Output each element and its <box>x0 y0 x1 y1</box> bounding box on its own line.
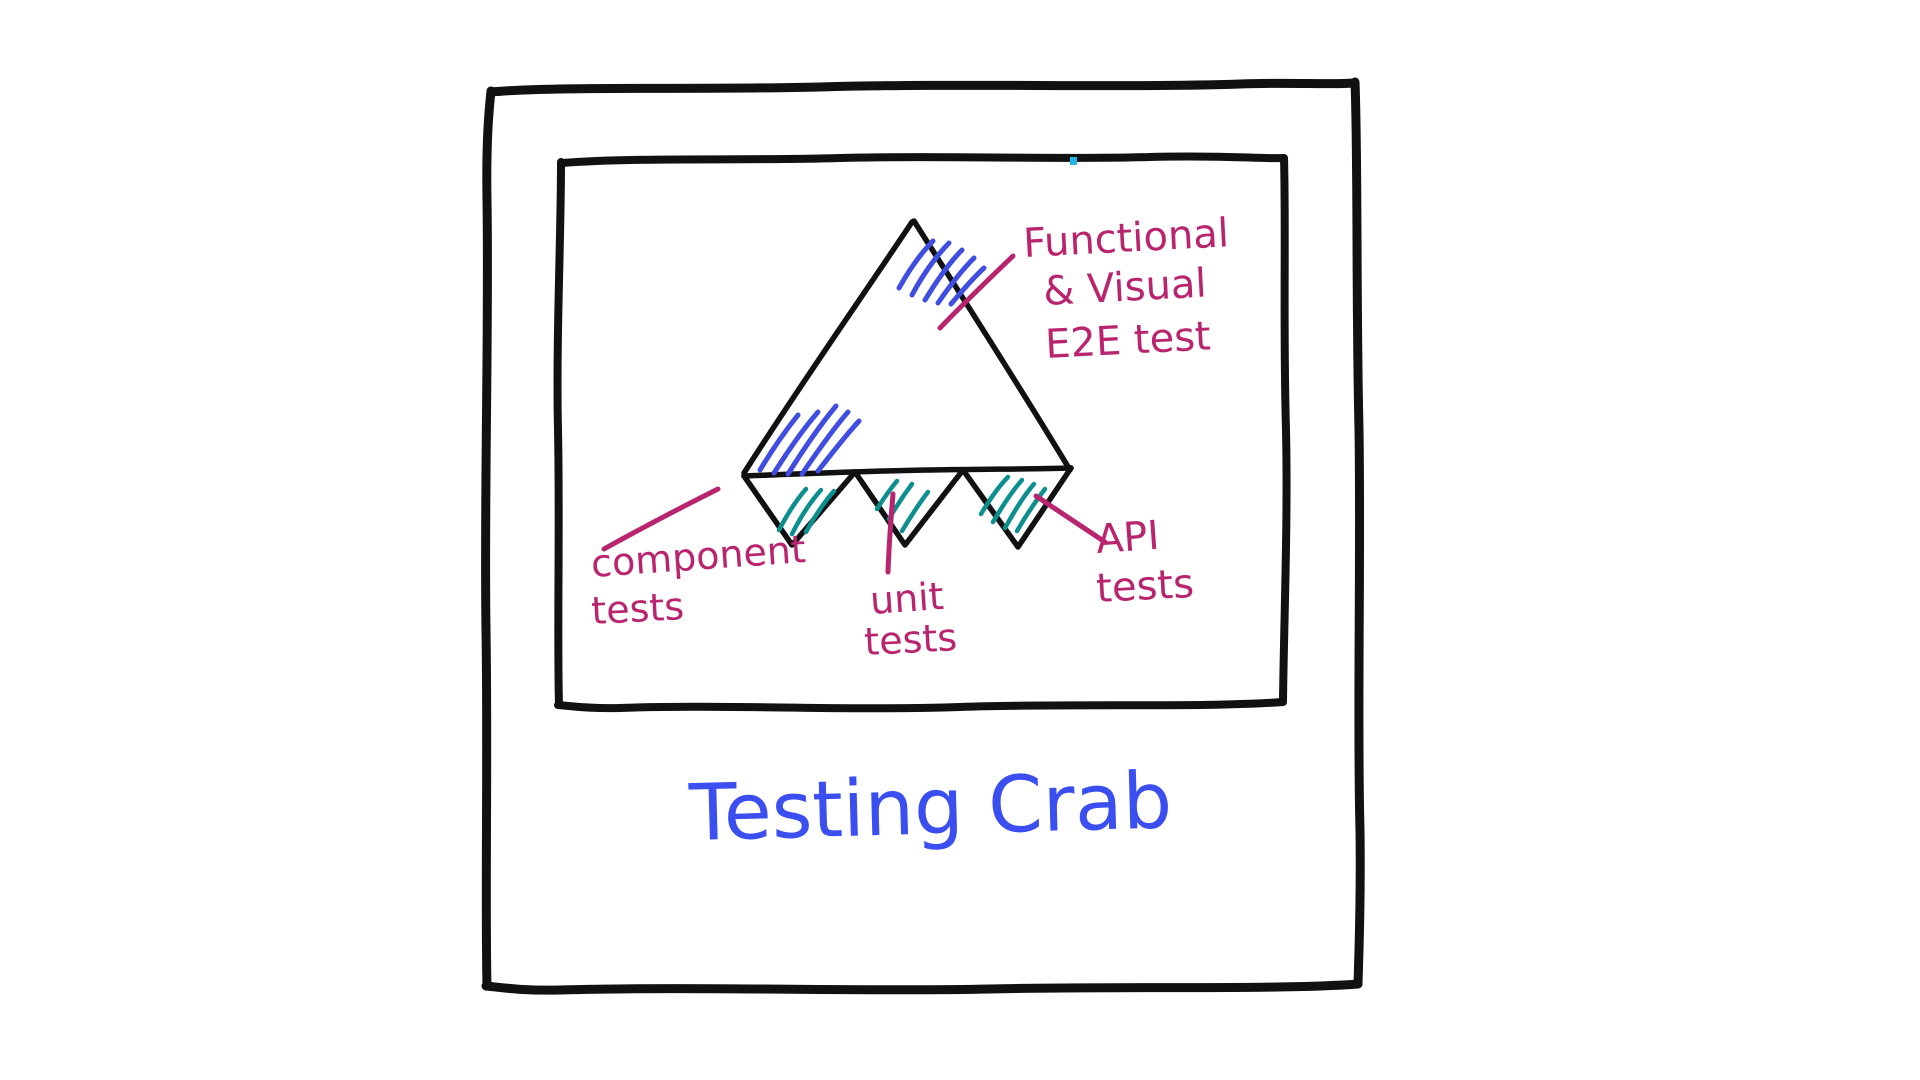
label-e2e-tests: Functional & Visual E2E test <box>1022 210 1230 368</box>
diagram-title: Testing Crab <box>687 756 1173 859</box>
inner-frame-right-edge <box>1283 158 1287 700</box>
inner-frame-left-edge <box>558 162 561 705</box>
label-api-line-1: API <box>1094 513 1160 563</box>
label-e2e-line-2: & Visual <box>1042 261 1208 315</box>
label-unit-line-2: tests <box>863 615 958 664</box>
cyan-dot-artifact <box>1070 157 1077 165</box>
outer-frame-right-edge <box>1355 82 1360 984</box>
label-component-line-2: tests <box>590 584 685 633</box>
label-e2e-line-3: E2E test <box>1044 313 1212 368</box>
whiteboard-sketch: Functional & Visual E2E test component t… <box>0 0 1920 1080</box>
label-api-line-2: tests <box>1095 561 1195 612</box>
screenshot-canvas: Functional & Visual E2E test component t… <box>0 0 1920 1080</box>
canvas-background <box>0 0 1920 1080</box>
